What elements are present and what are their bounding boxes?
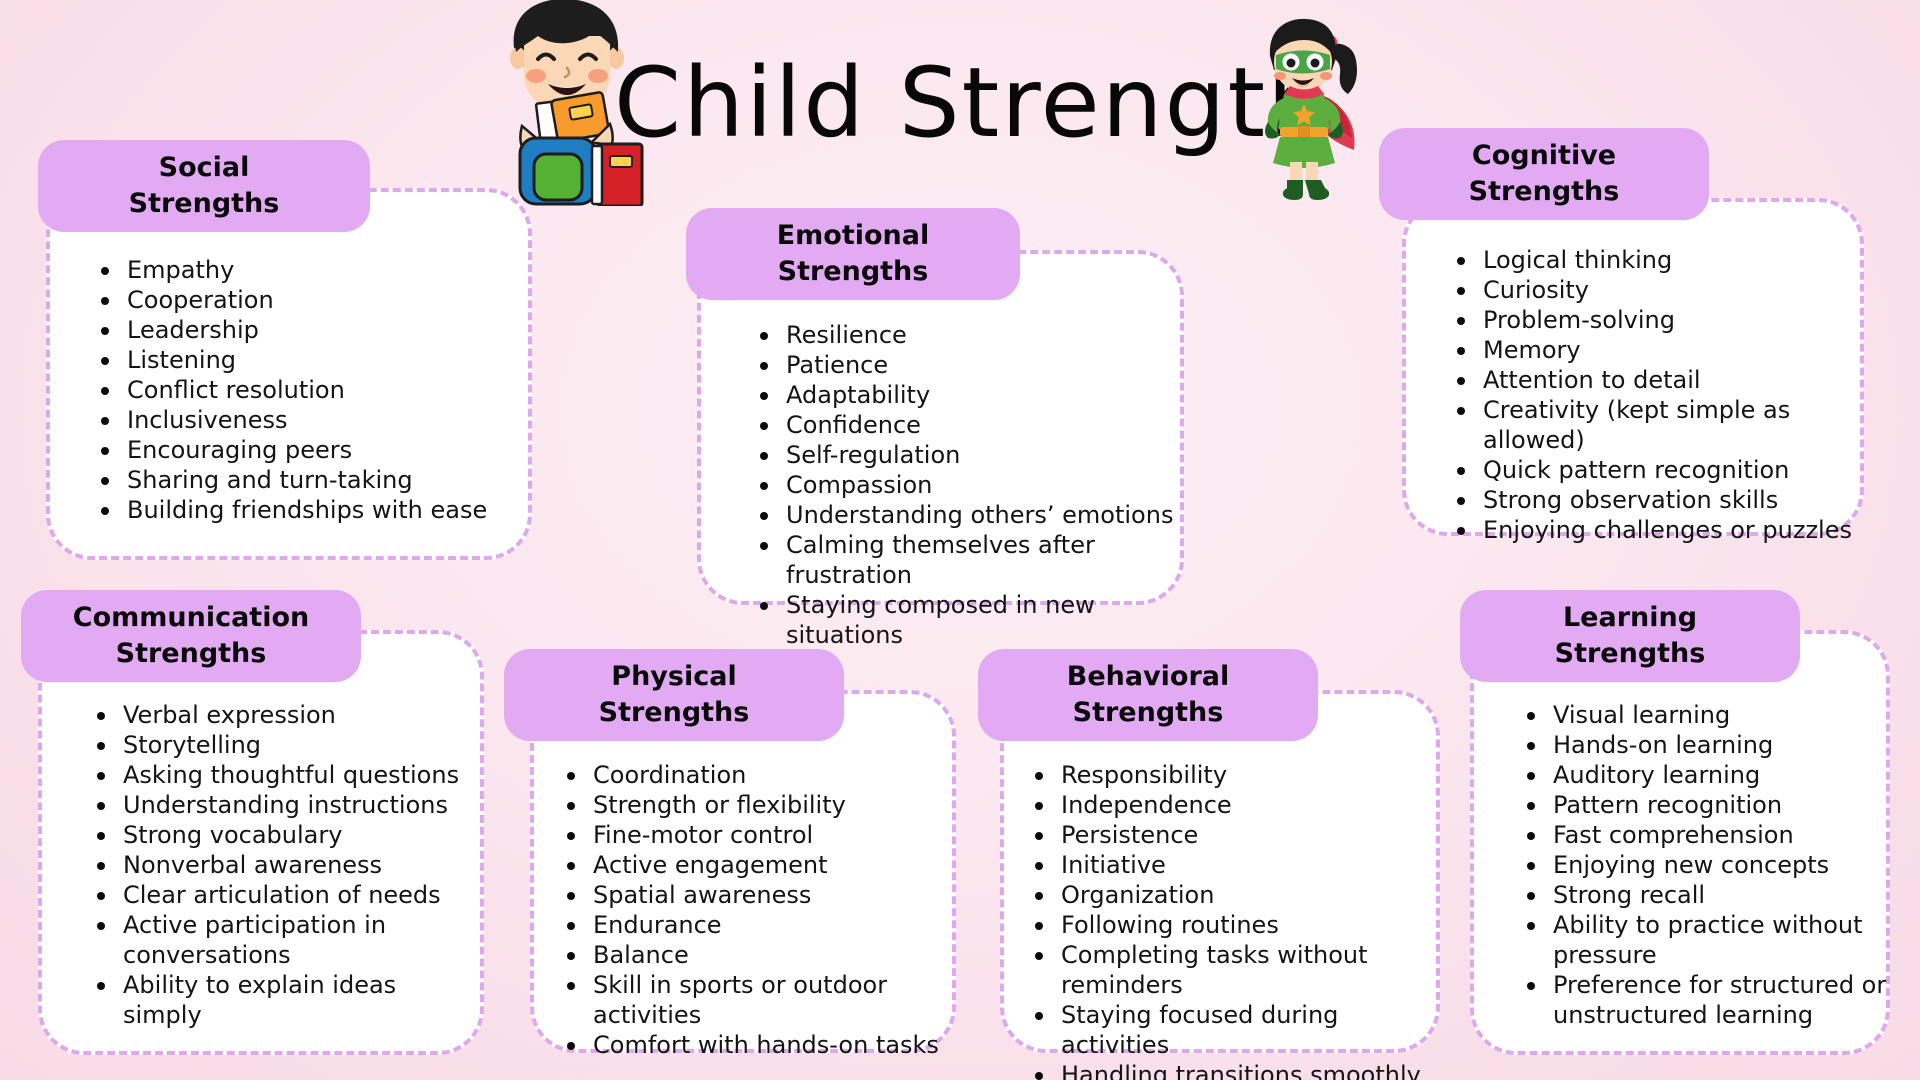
list-item: Independence [1030, 790, 1450, 820]
list-item: Clear articulation of needs [92, 880, 472, 910]
list-item: Enjoying challenges or puzzles [1452, 515, 1872, 545]
list-item: Listening [96, 345, 516, 375]
list-item: Initiative [1030, 850, 1450, 880]
list-item: Persistence [1030, 820, 1450, 850]
list-item: Endurance [562, 910, 962, 940]
list-item: Coordination [562, 760, 962, 790]
list-item: Completing tasks without reminders [1030, 940, 1450, 1000]
list-item: Calming themselves after frustration [755, 530, 1185, 590]
list-item: Asking thoughtful questions [92, 760, 472, 790]
list-item: Ability to practice without pressure [1522, 910, 1902, 970]
card-physical-header[interactable]: Physical Strengths [504, 649, 844, 741]
list-item: Fine-motor control [562, 820, 962, 850]
list-item: Empathy [96, 255, 516, 285]
list-item: Balance [562, 940, 962, 970]
card-behavioral-header[interactable]: Behavioral Strengths [978, 649, 1318, 741]
list-item: Following routines [1030, 910, 1450, 940]
list-item: Verbal expression [92, 700, 472, 730]
card-physical-title-line2: Strengths [599, 695, 750, 731]
page-title: Child Strength [614, 55, 1330, 151]
list-item: Inclusiveness [96, 405, 516, 435]
list-item: Patience [755, 350, 1185, 380]
list-item: Understanding others’ emotions [755, 500, 1185, 530]
boy-with-backpack-illustration [482, 0, 652, 206]
list-item: Storytelling [92, 730, 472, 760]
list-item: Adaptability [755, 380, 1185, 410]
card-behavioral-title-line2: Strengths [1073, 695, 1224, 731]
card-physical-title-line1: Physical [611, 659, 736, 695]
list-item: Leadership [96, 315, 516, 345]
card-learning-title-line1: Learning [1563, 600, 1697, 636]
list-item: Enjoying new concepts [1522, 850, 1902, 880]
card-learning-title-line2: Strengths [1555, 636, 1706, 672]
list-item: Self-regulation [755, 440, 1185, 470]
list-item: Sharing and turn-taking [96, 465, 516, 495]
card-social-title-line1: Social [159, 150, 250, 186]
list-item: Building friendships with ease [96, 495, 516, 525]
card-behavioral-title-line1: Behavioral [1067, 659, 1230, 695]
list-item: Organization [1030, 880, 1450, 910]
list-item: Fast comprehension [1522, 820, 1902, 850]
card-communication-header[interactable]: Communication Strengths [21, 590, 361, 682]
list-item: Creativity (kept simple as allowed) [1452, 395, 1872, 455]
list-item: Active participation in conversations [92, 910, 472, 970]
card-learning-header[interactable]: Learning Strengths [1460, 590, 1800, 682]
list-item: Preference for structured or unstructure… [1522, 970, 1902, 1030]
list-item: Confidence [755, 410, 1185, 440]
card-behavioral-list: ResponsibilityIndependencePersistenceIni… [1030, 760, 1450, 1080]
card-communication-title-line1: Communication [73, 600, 310, 636]
list-item: Skill in sports or outdoor activities [562, 970, 962, 1030]
superhero-girl-illustration [1244, 10, 1376, 202]
card-learning-list: Visual learningHands-on learningAuditory… [1522, 700, 1902, 1030]
list-item: Understanding instructions [92, 790, 472, 820]
list-item: Responsibility [1030, 760, 1450, 790]
card-emotional-title-line2: Strengths [778, 254, 929, 290]
list-item: Problem-solving [1452, 305, 1872, 335]
card-physical-list: CoordinationStrength or flexibilityFine-… [562, 760, 962, 1060]
card-cognitive-list: Logical thinkingCuriosityProblem-solving… [1452, 245, 1872, 545]
list-item: Strong vocabulary [92, 820, 472, 850]
list-item: Handling transitions smoothly [1030, 1060, 1450, 1080]
list-item: Quick pattern recognition [1452, 455, 1872, 485]
list-item: Staying focused during activities [1030, 1000, 1450, 1060]
list-item: Strong observation skills [1452, 485, 1872, 515]
list-item: Visual learning [1522, 700, 1902, 730]
card-cognitive-title-line1: Cognitive [1472, 138, 1616, 174]
list-item: Strong recall [1522, 880, 1902, 910]
list-item: Compassion [755, 470, 1185, 500]
list-item: Attention to detail [1452, 365, 1872, 395]
card-cognitive-header[interactable]: Cognitive Strengths [1379, 128, 1709, 220]
list-item: Pattern recognition [1522, 790, 1902, 820]
card-emotional-list: ResiliencePatienceAdaptabilityConfidence… [755, 320, 1185, 650]
list-item: Logical thinking [1452, 245, 1872, 275]
list-item: Resilience [755, 320, 1185, 350]
list-item: Spatial awareness [562, 880, 962, 910]
card-communication-title-line2: Strengths [116, 636, 267, 672]
list-item: Staying composed in new situations [755, 590, 1185, 650]
list-item: Active engagement [562, 850, 962, 880]
card-emotional-title-line1: Emotional [777, 218, 930, 254]
card-cognitive-title-line2: Strengths [1469, 174, 1620, 210]
list-item: Comfort with hands-on tasks [562, 1030, 962, 1060]
list-item: Memory [1452, 335, 1872, 365]
card-social-title-line2: Strengths [129, 186, 280, 222]
list-item: Conflict resolution [96, 375, 516, 405]
list-item: Curiosity [1452, 275, 1872, 305]
list-item: Encouraging peers [96, 435, 516, 465]
card-emotional-header[interactable]: Emotional Strengths [686, 208, 1020, 300]
list-item: Strength or flexibility [562, 790, 962, 820]
card-social-list: EmpathyCooperationLeadershipListeningCon… [96, 255, 516, 525]
list-item: Nonverbal awareness [92, 850, 472, 880]
list-item: Auditory learning [1522, 760, 1902, 790]
list-item: Cooperation [96, 285, 516, 315]
list-item: Hands-on learning [1522, 730, 1902, 760]
card-communication-list: Verbal expressionStorytellingAsking thou… [92, 700, 472, 1030]
list-item: Ability to explain ideas simply [92, 970, 472, 1030]
card-social-header[interactable]: Social Strengths [38, 140, 370, 232]
